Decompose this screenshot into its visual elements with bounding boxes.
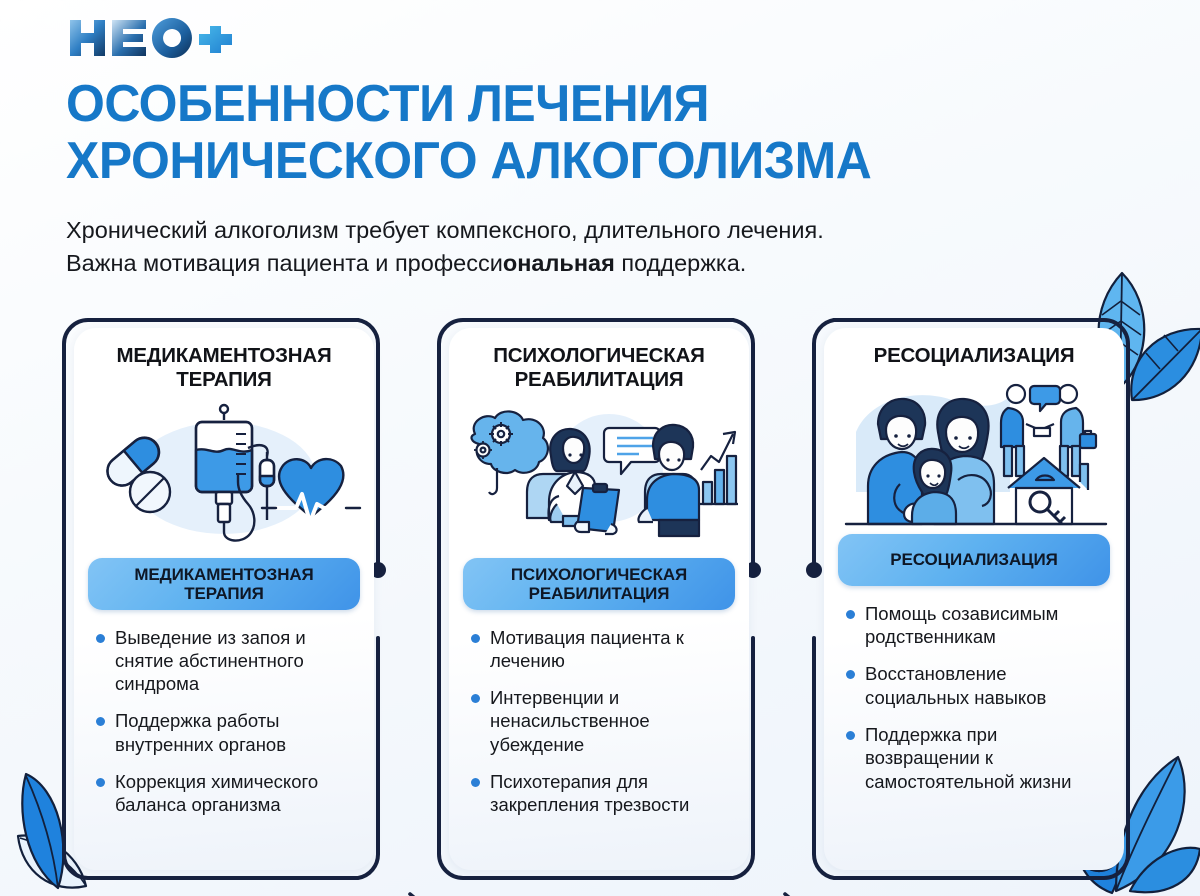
page-subtitle-line-2-pre: Важна мотивация пациента и професси: [66, 250, 503, 276]
card-bullet-list: Мотивация пациента к лечению Интервенции…: [471, 626, 733, 831]
list-item: Помощь созависимым родственникам: [846, 602, 1108, 649]
page-subtitle-line-1: Хронический алкоголизм требует компексно…: [66, 217, 824, 243]
page-subtitle-line-2-bold: ональная: [503, 250, 615, 276]
card-badge[interactable]: ПСИХОЛОГИЧЕСКАЯ РЕАБИЛИТАЦИЯ: [463, 558, 735, 610]
illustration-pills-iv-drip-heart-pulse: [74, 400, 374, 550]
page-title: ОСОБЕННОСТИ ЛЕЧЕНИЯ ХРОНИЧЕСКОГО АЛКОГОЛ…: [66, 76, 1122, 190]
card-heading: МЕДИКАМЕНТОЗНАЯ ТЕРАПИЯ: [88, 344, 360, 392]
page-subtitle-line-2-post: поддержка.: [615, 250, 747, 276]
frame-dot: [806, 562, 822, 578]
list-item: Выведение из запоя и снятие абстинентног…: [96, 626, 358, 696]
card-bullet-list: Помощь созависимым родственникам Восстан…: [846, 602, 1108, 807]
card-psychological-rehabilitation[interactable]: ПСИХОЛОГИЧЕСКАЯ РЕАБИЛИТАЦИЯ: [437, 318, 755, 880]
illustration-brain-therapist-patient-growth-chart: [449, 400, 749, 550]
card-panel: ПСИХОЛОГИЧЕСКАЯ РЕАБИЛИТАЦИЯ: [449, 328, 749, 870]
list-item: Восстановление социальных навыков: [846, 662, 1108, 709]
list-item: Коррекция химического баланса организма: [96, 770, 358, 817]
card-bullet-list: Выведение из запоя и снятие абстинентног…: [96, 626, 358, 831]
list-item: Поддержка при возвращении к самостоятель…: [846, 723, 1108, 793]
flow-arrow-1: [392, 888, 434, 896]
list-item: Психотерапия для закрепления трезвости: [471, 770, 733, 817]
illustration-family-handshake-house-key: [824, 376, 1124, 526]
card-badge[interactable]: МЕДИКАМЕНТОЗНАЯ ТЕРАПИЯ: [88, 558, 360, 610]
page-title-line-1: ОСОБЕННОСТИ ЛЕЧЕНИЯ: [66, 75, 709, 133]
card-heading: ПСИХОЛОГИЧЕСКАЯ РЕАБИЛИТАЦИЯ: [463, 344, 735, 392]
flow-arrow-2: [767, 888, 809, 896]
card-panel: РЕСОЦИАЛИЗАЦИЯ: [824, 328, 1124, 870]
card-resocialization[interactable]: РЕСОЦИАЛИЗАЦИЯ: [812, 318, 1130, 880]
brand-logo[interactable]: НЕО+: [68, 16, 238, 60]
list-item: Мотивация пациента к лечению: [471, 626, 733, 673]
card-medication-therapy[interactable]: МЕДИКАМЕНТОЗНАЯ ТЕРАПИЯ: [62, 318, 380, 880]
page-subtitle: Хронический алкоголизм требует компексно…: [66, 214, 1126, 281]
card-panel: МЕДИКАМЕНТОЗНАЯ ТЕРАПИЯ: [74, 328, 374, 870]
list-item: Интервенции и ненасильственное убеждение: [471, 686, 733, 756]
card-heading: РЕСОЦИАЛИЗАЦИЯ: [838, 344, 1110, 368]
list-item: Поддержка работы внутренних органов: [96, 709, 358, 756]
card-badge[interactable]: РЕСОЦИАЛИЗАЦИЯ: [838, 534, 1110, 586]
cards-row: МЕДИКАМЕНТОЗНАЯ ТЕРАПИЯ: [0, 318, 1200, 888]
page-title-line-2: ХРОНИЧЕСКОГО АЛКОГОЛИЗМА: [66, 132, 871, 190]
